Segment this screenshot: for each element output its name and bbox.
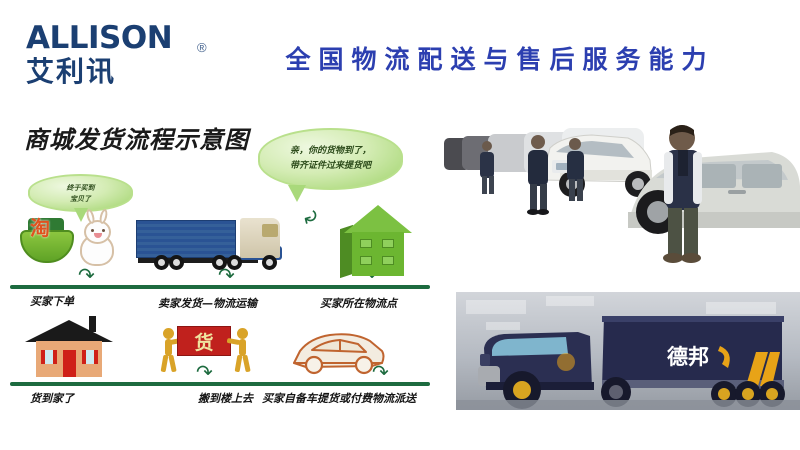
rabbit-head (84, 220, 111, 244)
registered-trademark-icon: ® (197, 40, 207, 55)
brand-name-latin: ALLISON (26, 22, 211, 54)
flow-label-home: 货到家了 (30, 390, 74, 406)
flow-label-ship: 卖家发货—物流运输 (158, 295, 257, 311)
cargo-box-label: 货 (194, 328, 213, 355)
porter-figure-right (231, 328, 253, 372)
slide-canvas: ALLISON ® 艾利讯 全国物流配送与售后服务能力 商城发货流程示意图 ↷ … (0, 0, 800, 450)
fleet-photo (442, 108, 800, 288)
shipping-flow-diagram: 商城发货流程示意图 ↷ ↷ ↷ ↷ ↷ ↷ ↷ 终于买到 宝贝了 亲，你的货物到… (0, 110, 440, 430)
porter-head (163, 328, 174, 339)
flow-arrow-1: ↷ (78, 266, 95, 286)
buyer-bubble-line-1: 终于买到 (67, 182, 95, 193)
truck-trailer-body (136, 220, 236, 258)
house-roof (25, 320, 113, 342)
deppon-truck-photo: 德邦 (456, 292, 800, 410)
porter-leg (235, 355, 243, 373)
flow-label-upstairs: 搬到楼上去 (198, 390, 253, 406)
semi-truck-icon (136, 210, 286, 280)
buyer-bubble-line-2: 宝贝了 (67, 193, 95, 204)
truck-wheel (212, 255, 227, 270)
rabbit-mascot-icon (74, 214, 120, 268)
warehouse-window (360, 239, 372, 248)
truck-wheel (169, 255, 184, 270)
station-speech-bubble: 亲，你的货物到了， 带齐证件过来提货吧 (258, 128, 403, 190)
truck-wheel (262, 255, 277, 270)
warehouse-window (360, 256, 372, 265)
house-icon (25, 320, 113, 378)
svg-text:德邦: 德邦 (667, 345, 709, 369)
shopping-basket-icon: 淘 (18, 210, 76, 268)
porter-leg (161, 355, 169, 373)
rabbit-ear-right (98, 208, 108, 224)
car-icon (288, 325, 388, 380)
porter-leg (168, 355, 176, 373)
flow-arrow-station-in: ↷ (296, 204, 322, 229)
truck-wheel (227, 255, 242, 270)
diagram-heading: 商城发货流程示意图 (24, 120, 249, 155)
flow-label-station: 买家所在物流点 (320, 295, 397, 311)
rabbit-eye-left (91, 229, 94, 232)
house-window (82, 350, 98, 364)
brand-name-chinese: 艾利讯 (26, 56, 211, 88)
flow-label-order: 买家下单 (30, 293, 74, 309)
buyer-speech-bubble: 终于买到 宝贝了 (28, 174, 133, 212)
page-title: 全国物流配送与售后服务能力 (240, 40, 760, 76)
station-bubble-line-1: 亲，你的货物到了， (290, 144, 371, 159)
porter-head (237, 328, 248, 339)
cargo-box-icon: 货 (177, 326, 231, 356)
porters-icon: 货 (155, 322, 255, 378)
taobao-character-label: 淘 (30, 212, 50, 241)
house-window (41, 350, 57, 364)
flow-label-pickup: 买家自备车提货或付费物流派送 (262, 390, 416, 406)
porter-figure-left (157, 328, 179, 372)
warehouse-window (382, 239, 394, 248)
warehouse-window (382, 256, 394, 265)
brand-logo: ALLISON ® 艾利讯 (26, 22, 211, 92)
warehouse-icon (340, 205, 420, 280)
house-door (63, 350, 76, 377)
porter-leg (242, 355, 250, 373)
truck-wheel (154, 255, 169, 270)
rabbit-eye-right (102, 229, 105, 232)
warehouse-roof (344, 205, 412, 233)
bubble-tail-icon (288, 185, 306, 202)
truck-window (262, 224, 278, 237)
station-bubble-line-2: 带齐证件过来提货吧 (290, 159, 371, 174)
